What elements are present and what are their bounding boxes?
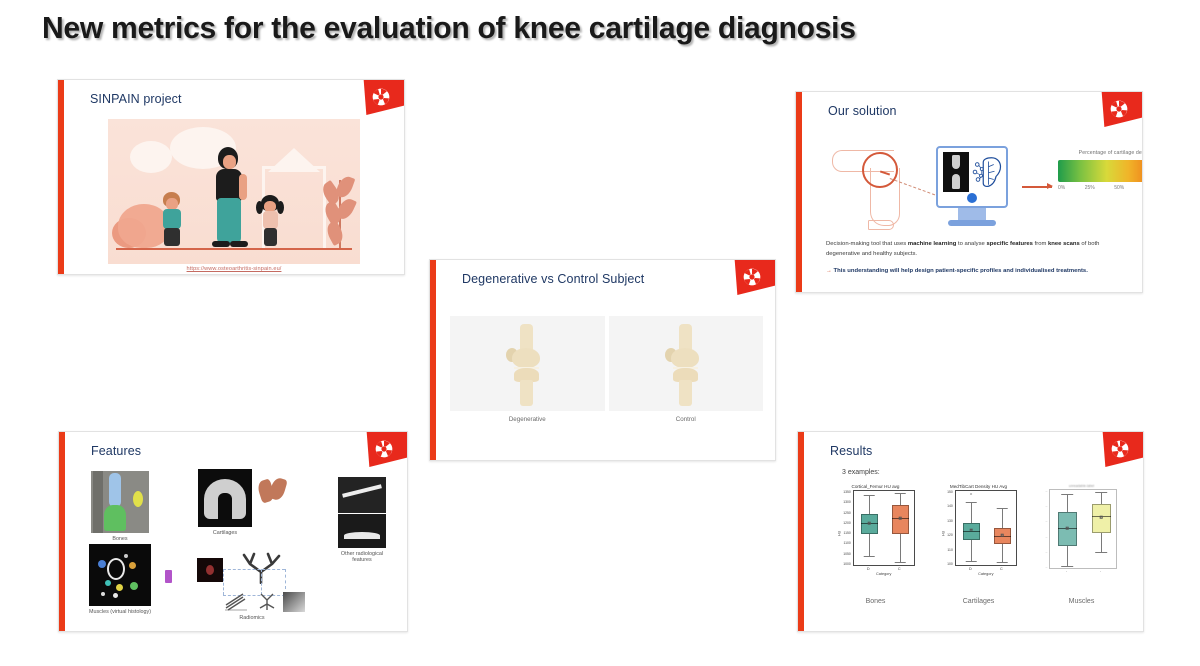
- mother-shoe-icon: [212, 241, 230, 247]
- radiomics-diagram: [197, 550, 307, 612]
- slide-sinpain-project[interactable]: SINPAIN project: [57, 79, 405, 275]
- feature-other-radiological: Other radiological features: [338, 477, 386, 563]
- whisker-cap: [997, 562, 1008, 563]
- page-title: New metrics for the evaluation of knee c…: [42, 10, 1128, 46]
- chart-muscles: unreadable-label –––––– ··: [1030, 484, 1133, 594]
- y-tick: –: [1046, 535, 1048, 539]
- bone-arch: [344, 532, 380, 539]
- x-tick: ·: [1066, 570, 1067, 574]
- y-tick: 110: [947, 548, 952, 552]
- box-iqr: [1092, 504, 1111, 533]
- xray-femur: [952, 155, 960, 169]
- results-subtitle: 3 examples:: [842, 469, 880, 476]
- gradient-tick: 0%: [1058, 185, 1065, 191]
- monitor-indicator-dot: [967, 193, 977, 203]
- tibia-segment-green: [104, 505, 126, 531]
- chart-bones: Cortical_Femur HU avg HU 135013001250120…: [824, 484, 927, 594]
- whisker-cap: [864, 495, 875, 496]
- slide-features[interactable]: Features Bones Cartilages: [58, 431, 408, 632]
- y-tick: 1200: [843, 521, 851, 525]
- radiomics-connector: [285, 569, 286, 589]
- histology-dot: [129, 562, 136, 569]
- solution-description: Decision-making tool that uses machine l…: [826, 240, 1126, 277]
- boxplot-box: [861, 491, 878, 567]
- whisker-cap: [966, 502, 977, 503]
- radiomics-shape-icon: [255, 590, 279, 612]
- mother-legs-icon: [217, 198, 241, 244]
- whisker-cap: [997, 508, 1008, 509]
- knee-panel-captions: Degenerative Control: [450, 416, 763, 423]
- feature-radiomics: Radiomics: [197, 550, 307, 621]
- histology-dot: [113, 593, 118, 598]
- whisker-lower: [900, 534, 901, 562]
- whisker-lower: [971, 540, 972, 562]
- conclusion-text: This understanding will help design pati…: [834, 268, 1088, 274]
- whisker-cap: [1062, 494, 1074, 495]
- boxplot-box: [1092, 490, 1111, 570]
- solution-conclusion: → This understanding will help design pa…: [826, 267, 1126, 277]
- boxplot-canvas-1: O: [955, 490, 1017, 566]
- feature-muscles: Muscles (virtual histology): [89, 544, 151, 615]
- histology-dot: [130, 582, 138, 590]
- y-tick: –: [1046, 504, 1048, 508]
- gradient-color-bar: [1058, 160, 1143, 182]
- meniscus-3d-icon: [259, 478, 287, 506]
- plot-area-0: HU 13501300125012001150110010501000 DC C…: [836, 490, 915, 576]
- y-tick-labels-1: 150140130120110100: [947, 490, 955, 566]
- x-tick: C: [1000, 567, 1003, 571]
- whisker-cap: [966, 561, 977, 562]
- gradient-tick: 50%: [1114, 185, 1124, 191]
- slide-body: SINPAIN project: [64, 80, 404, 274]
- whisker-cap: [1062, 566, 1074, 567]
- ground-line: [116, 248, 352, 250]
- mother-shoe-icon: [230, 241, 248, 247]
- whisker-lower: [1101, 533, 1102, 552]
- whisker-upper: [1002, 508, 1003, 528]
- histology-dot: [101, 592, 105, 596]
- boxplot-box: [963, 491, 980, 567]
- whisker-cap: [895, 562, 906, 563]
- whisker-lower: [1002, 544, 1003, 562]
- ai-brain-icon: [972, 154, 1002, 190]
- whisker-cap: [895, 493, 906, 494]
- radiological-image-a: [338, 477, 386, 513]
- arrow-right-icon: →: [826, 268, 832, 274]
- slide-title-features: Features: [91, 444, 141, 458]
- whisker-cap: [1096, 492, 1108, 493]
- knee-xray-icon: [943, 152, 969, 192]
- histology-dot: [116, 584, 123, 591]
- bones-segmentation-image: [91, 471, 149, 533]
- slide-results[interactable]: Results 3 examples: Cortical_Femur HU av…: [797, 431, 1144, 632]
- boxplot-box: [994, 491, 1011, 567]
- girl-legs-icon: [264, 228, 277, 246]
- sinpain-illustration: [108, 119, 360, 264]
- whisker-upper: [1101, 492, 1102, 504]
- sinpain-project-link[interactable]: https://www.osteoarthritis-sinpain.eu/: [108, 266, 360, 272]
- y-tick: 130: [947, 519, 953, 523]
- x-tick: C: [898, 567, 901, 571]
- intercondylar-notch: [218, 493, 232, 519]
- y-tick: 1250: [843, 511, 851, 515]
- knee-3d-model-icon: [663, 324, 709, 404]
- y-tick: –: [1046, 565, 1048, 569]
- slide-title-results: Results: [830, 444, 872, 458]
- results-charts: Cortical_Femur HU avg HU 135013001250120…: [824, 484, 1133, 594]
- boy-body-icon: [163, 209, 181, 229]
- whisker-upper: [900, 493, 901, 505]
- tibia-shape: [679, 380, 692, 406]
- feature-label-muscles: Muscles (virtual histology): [89, 609, 151, 615]
- x-tick: D: [969, 567, 972, 571]
- condyle-shape: [671, 348, 699, 368]
- boxplot-box: [892, 491, 909, 567]
- desc-mid1: to analyse: [956, 241, 986, 247]
- y-tick: 150: [947, 490, 953, 494]
- knee-render-degenerative: [450, 316, 605, 411]
- y-tick: –: [1046, 519, 1048, 523]
- feature-label-radiomics: Radiomics: [197, 615, 307, 621]
- computer-monitor-icon: [936, 146, 1008, 234]
- y-axis-label-0: HU: [836, 490, 843, 576]
- gradient-legend-title: Percentage of cartilage degeneration: [1058, 150, 1143, 156]
- whisker-lower: [1067, 546, 1068, 566]
- mean-marker: [899, 517, 902, 520]
- whisker-cap: [864, 556, 875, 557]
- boxplot-canvas-0: [853, 490, 915, 566]
- y-tick: 1350: [843, 490, 851, 494]
- y-tick-labels-0: 13501300125012001150110010501000: [843, 490, 853, 566]
- outlier-marker: O: [970, 492, 972, 496]
- gradient-tick-labels: 0% 25% 50% 75% 100%: [1058, 185, 1143, 191]
- feature-bones: Bones: [91, 471, 149, 542]
- desc-bold-ml: machine learning: [908, 241, 956, 247]
- monitor-stand: [948, 220, 996, 226]
- desc-bold-scans: knee scans: [1048, 241, 1080, 247]
- playground-roof-icon: [268, 148, 320, 172]
- boxplot-box: [1058, 490, 1077, 570]
- mother-arm-icon: [239, 174, 247, 200]
- histology-dot: [105, 580, 111, 586]
- slide-body: Our solution: [802, 92, 1142, 292]
- radiological-image-b: [338, 514, 386, 548]
- gradient-tick: 25%: [1085, 185, 1095, 191]
- desc-bold-features: specific features: [986, 241, 1033, 247]
- slide-title-our-solution: Our solution: [828, 104, 897, 118]
- condyle-shape: [512, 348, 540, 368]
- y-tick: 1000: [843, 562, 851, 566]
- mean-marker: [1066, 527, 1069, 530]
- whisker-upper: [971, 502, 972, 522]
- femur-segment-blue: [109, 473, 121, 507]
- feature-label-cartilages: Cartilages: [198, 530, 252, 536]
- knee-comparison-panels: [450, 316, 763, 411]
- caption-muscles: Muscles: [1030, 598, 1133, 605]
- caption-degenerative: Degenerative: [450, 416, 605, 423]
- y-tick: 140: [947, 504, 953, 508]
- image-sidebar-band: [93, 471, 103, 533]
- desc-prefix: Decision-making tool that uses: [826, 241, 908, 247]
- caption-control: Control: [609, 416, 764, 423]
- knee-3d-model-icon: [504, 324, 550, 404]
- y-tick: 100: [947, 562, 953, 566]
- y-tick: 1300: [843, 500, 851, 504]
- bone-band: [342, 484, 382, 498]
- y-tick: 1050: [843, 552, 851, 556]
- x-tick: D: [867, 567, 870, 571]
- results-captions: Bones Cartilages Muscles: [824, 598, 1133, 605]
- plot-area-2: –––––– ··: [1046, 489, 1118, 574]
- flow-arrow-icon: [1022, 186, 1052, 188]
- lesion-marker: [206, 565, 214, 575]
- histology-dot: [98, 560, 106, 568]
- chart-cartilages: MedTibCart Density HU Avg HU 15014013012…: [927, 484, 1030, 594]
- cartilage-ct-image: [198, 469, 252, 527]
- desc-mid2: from: [1033, 241, 1048, 247]
- tibia-shape: [520, 380, 533, 406]
- y-tick: 120: [947, 533, 953, 537]
- x-tick: ·: [1100, 570, 1101, 574]
- tree-shape-icon: [130, 141, 172, 173]
- boy-legs-icon: [164, 228, 180, 246]
- chart-title-0: Cortical_Femur HU avg: [852, 484, 900, 489]
- feature-label-bones: Bones: [91, 536, 149, 542]
- whisker-cap: [1096, 552, 1108, 553]
- slide-our-solution[interactable]: Our solution: [795, 91, 1143, 293]
- poster-page: New metrics for the evaluation of knee c…: [0, 0, 1200, 666]
- radiomics-texture-patch: [283, 592, 305, 612]
- muscle-outline-ring: [107, 558, 125, 580]
- plot-area-1: HU 150140130120110100 O DC Category: [940, 490, 1017, 576]
- patella-segment-yellow: [133, 491, 143, 507]
- whisker-upper: [869, 495, 870, 514]
- radiomics-source-image: [197, 558, 223, 582]
- muscle-histology-image: [89, 544, 151, 606]
- slide-body: Degenerative vs Control Subject: [436, 260, 775, 460]
- plant-leaves-icon: [324, 176, 354, 248]
- boxplot-canvas-2: [1049, 489, 1117, 569]
- histology-dot: [124, 554, 128, 558]
- slide-degenerative-vs-control[interactable]: Degenerative vs Control Subject: [429, 259, 776, 461]
- slide-body: Features Bones Cartilages: [65, 432, 407, 631]
- feature-label-other-radiological: Other radiological features: [338, 551, 386, 563]
- mean-marker: [1001, 534, 1004, 537]
- girl-body-icon: [263, 211, 278, 229]
- feature-cartilages: Cartilages: [198, 469, 252, 536]
- xray-tibia: [952, 174, 960, 189]
- x-axis-label-1: Category: [955, 571, 1017, 576]
- solution-diagram: Percentage of cartilage degeneration 0% …: [826, 134, 1130, 234]
- monitor-neck: [958, 208, 986, 220]
- chart-title-1: MedTibCart Density HU Avg: [950, 484, 1007, 489]
- caption-cartilages: Cartilages: [927, 598, 1030, 605]
- degeneration-scale: Percentage of cartilage degeneration 0% …: [1058, 150, 1143, 191]
- foot-shape: [868, 220, 894, 230]
- slide-title-degenerative-vs-control: Degenerative vs Control Subject: [462, 272, 644, 286]
- caption-bones: Bones: [824, 598, 927, 605]
- colour-scale-swatch-icon: [165, 570, 172, 583]
- knee-render-control: [609, 316, 764, 411]
- slide-title-sinpain: SINPAIN project: [90, 92, 182, 106]
- radiomics-histogram-icon: [223, 592, 249, 612]
- mother-face-icon: [223, 155, 236, 169]
- x-axis-label-0: Category: [853, 571, 915, 576]
- y-tick: –: [1046, 489, 1048, 493]
- mean-marker: [970, 528, 973, 531]
- whisker-lower: [869, 534, 870, 556]
- slide-body: Results 3 examples: Cortical_Femur HU av…: [804, 432, 1143, 631]
- chart-title-2: unreadable-label: [1069, 484, 1094, 488]
- radiomics-connector: [223, 569, 285, 570]
- y-tick: 1150: [843, 531, 850, 535]
- y-tick: –: [1046, 550, 1048, 554]
- mean-marker: [868, 522, 871, 525]
- whisker-upper: [1067, 494, 1068, 512]
- mean-marker: [1100, 516, 1103, 519]
- y-tick: 1100: [843, 541, 850, 545]
- y-axis-label-1: HU: [940, 490, 947, 576]
